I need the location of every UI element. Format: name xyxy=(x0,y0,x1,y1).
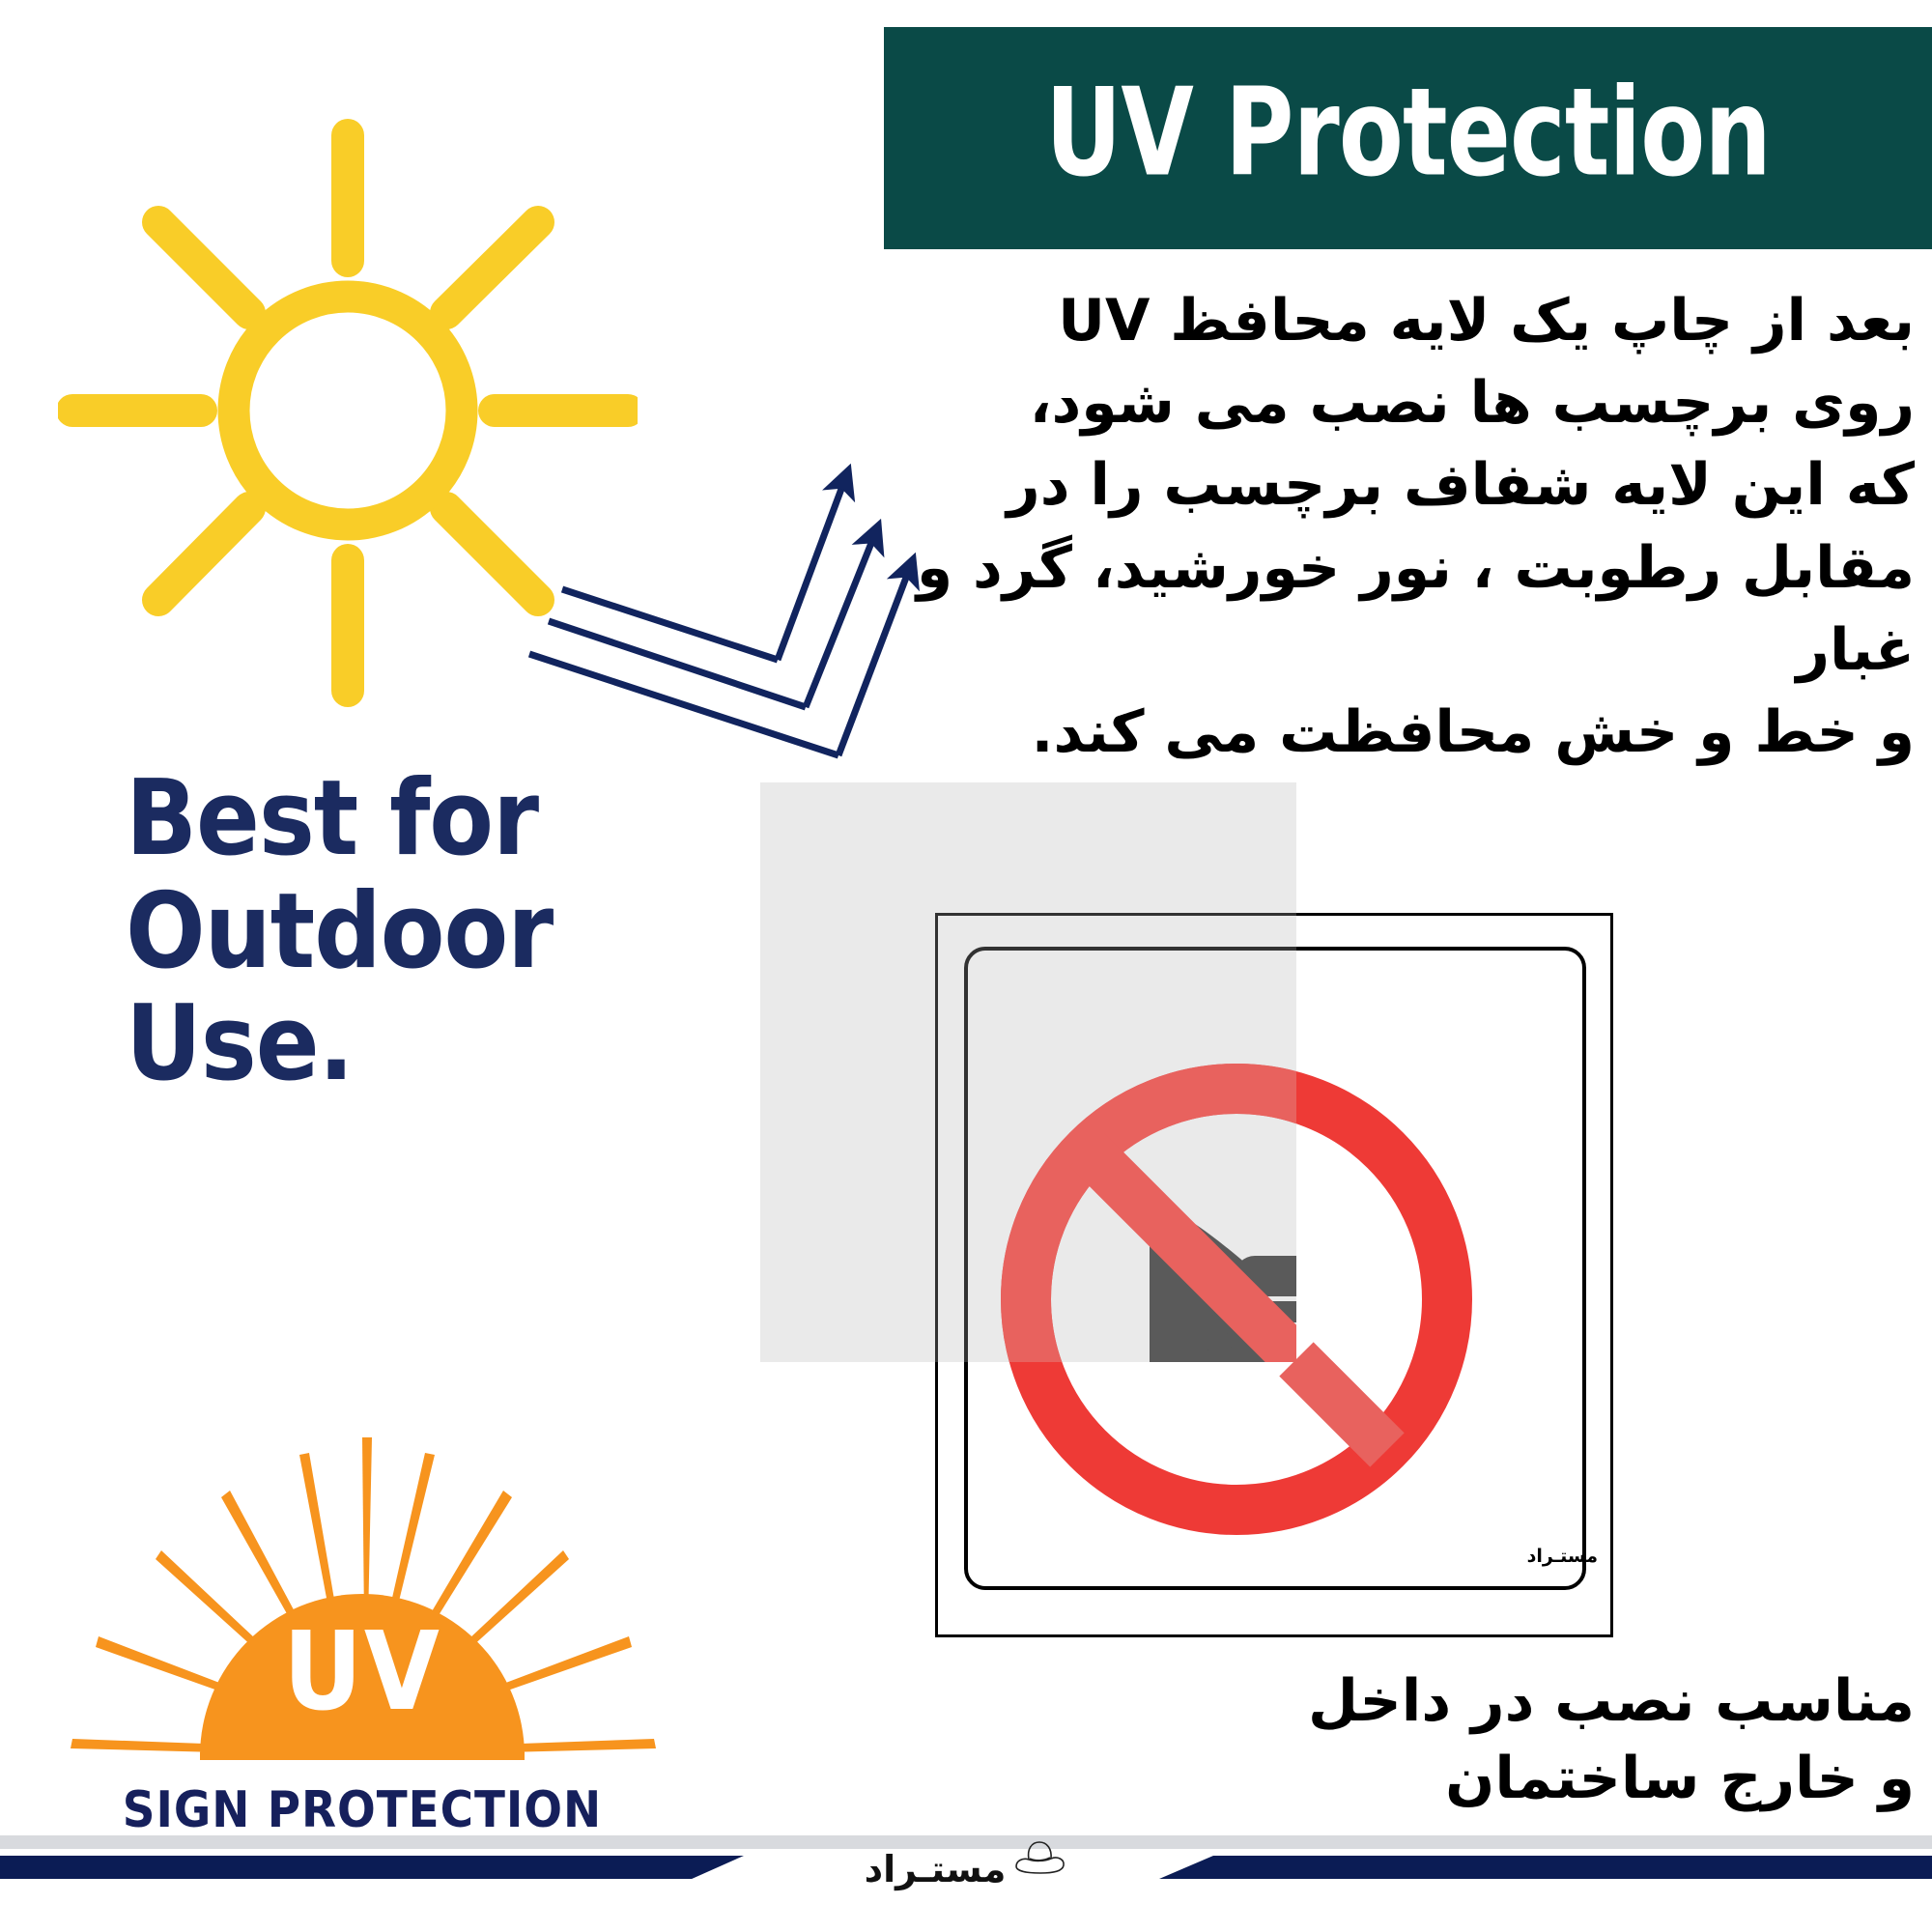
sign-watermark: مستـراد xyxy=(1527,1546,1598,1567)
cowboy-hat-icon xyxy=(1011,1838,1067,1882)
outdoor-claim-line-2: Outdoor xyxy=(126,876,763,989)
description-line-4: مقابل رطوبت ، نور خورشید، گرد و غبار xyxy=(833,527,1915,692)
page-title: UV Protection xyxy=(884,68,1932,210)
infographic-page: UV Protection xyxy=(0,0,1932,1932)
description-line-2: روی برچسب ها نصب می شود، xyxy=(833,362,1915,444)
header-banner: UV Protection xyxy=(884,27,1932,249)
uv-sign-protection-logo: UV SIGN PROTECTION xyxy=(53,1430,671,1835)
outdoor-claim-line-3: Use. xyxy=(126,988,763,1101)
no-horn-sign-mockup: مستـراد xyxy=(753,773,1642,1652)
outdoor-claim-line-1: Best for xyxy=(126,763,763,876)
caption-line-2: و خارج ساختمان xyxy=(949,1741,1915,1818)
description-line-1: بعد از چاپ یک لایه محافظ UV xyxy=(833,280,1915,362)
description-line-3: که این لایه شفاف برچسب را در xyxy=(833,444,1915,526)
footer-brand: مستـراد xyxy=(0,1833,1932,1897)
indoor-outdoor-caption: مناسب نصب در داخل و خارج ساختمان xyxy=(949,1663,1915,1818)
no-horn-symbol-under-layer xyxy=(753,773,1642,1652)
footer-brand-text: مستـراد xyxy=(865,1851,1007,1888)
outdoor-claim: Best for Outdoor Use. xyxy=(126,763,763,1101)
description-paragraph: بعد از چاپ یک لایه محافظ UV روی برچسب ها… xyxy=(833,280,1915,774)
logo-dome xyxy=(200,1594,525,1756)
description-line-5: و خط و خش محافظت می کند. xyxy=(833,692,1915,774)
page-title-text: UV Protection xyxy=(1045,62,1771,204)
uv-logo-secondary-text: SIGN PROTECTION xyxy=(53,1781,671,1839)
caption-line-1: مناسب نصب در داخل xyxy=(949,1663,1915,1741)
